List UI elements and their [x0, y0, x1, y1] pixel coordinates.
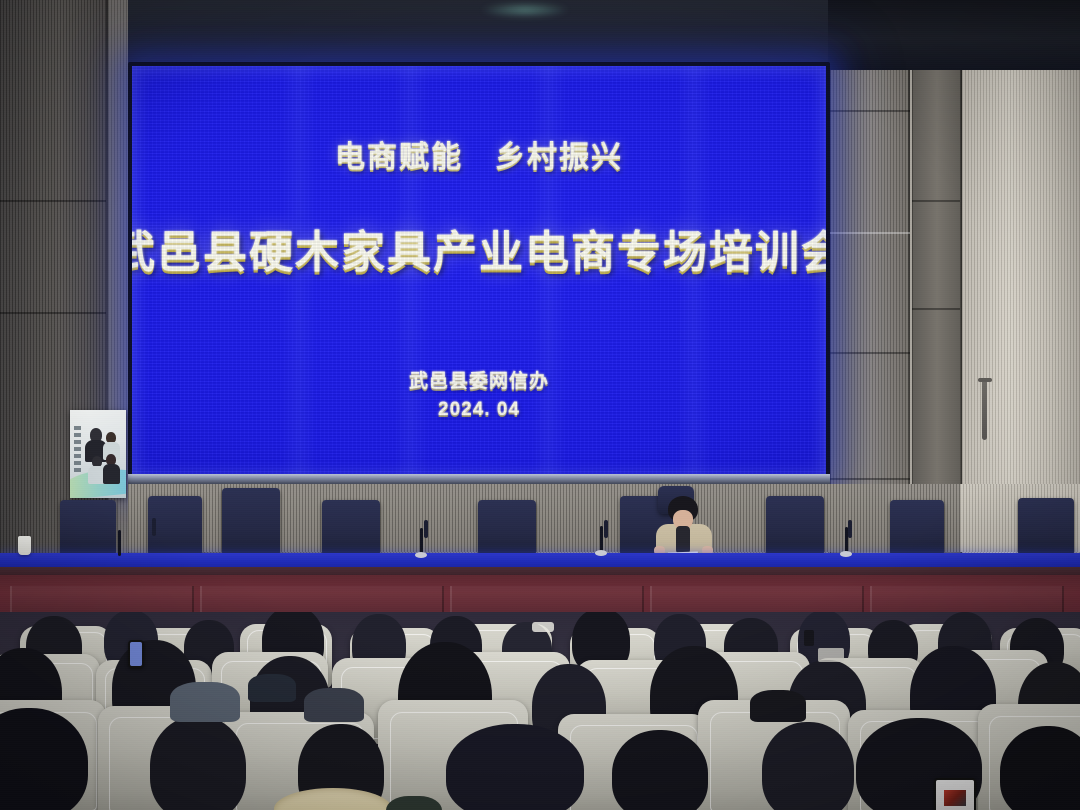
slide-title: 武邑县硬木家具产业电商专场培训会: [132, 216, 826, 280]
slide-date: 2024. 04: [438, 399, 520, 421]
slide-content: 电商赋能 乡村振兴 武邑县硬木家具产业电商专场培训会 武邑县委网信办 2024.…: [132, 66, 826, 478]
wall-hseam: [830, 478, 910, 480]
smartphone-screen[interactable]: [934, 778, 976, 810]
microphone-icon: [845, 527, 848, 553]
chair-arm: [424, 520, 428, 538]
stage-chair: [322, 500, 380, 554]
slide-tagline: 电商赋能 乡村振兴: [335, 132, 623, 176]
microphone-icon: [600, 526, 603, 552]
ceiling-light-glint: [480, 2, 570, 18]
stage-chair: [766, 496, 824, 554]
chair-arm: [152, 518, 156, 536]
presenter-inner-top: [676, 526, 690, 554]
attendee-collar: [248, 674, 296, 702]
attendee-head: [762, 722, 854, 810]
led-screen: 电商赋能 乡村振兴 武邑县硬木家具产业电商专场培训会 武邑县委网信办 2024.…: [132, 66, 826, 478]
poster-figure-body: [103, 464, 120, 484]
water-bottle: [804, 630, 814, 646]
microphone-base: [595, 550, 607, 556]
wall-hseam: [912, 308, 960, 310]
attendee-head: [446, 724, 584, 810]
chair-arm: [604, 520, 608, 538]
attendee-collar: [304, 688, 364, 722]
wall-hseam: [0, 200, 106, 202]
phone-display: [130, 642, 142, 666]
phone-content-thumbnail: [944, 790, 967, 806]
attendee-collar: [170, 682, 240, 722]
smartphone-screen[interactable]: [128, 640, 144, 668]
desk-paper: [818, 648, 844, 662]
conference-photo-scene: 电商赋能 乡村振兴 武邑县硬木家具产业电商专场培训会 武邑县委网信办 2024.…: [0, 0, 1080, 810]
microphone-icon: [420, 528, 423, 554]
stage-chair: [60, 500, 116, 554]
wall-hseam: [0, 312, 106, 314]
microphone-base: [840, 551, 852, 557]
screen-bottom-frame: [128, 474, 830, 484]
wall-hseam-highlight: [830, 232, 910, 234]
microphone-base: [415, 552, 427, 558]
wall-poster: [70, 410, 126, 498]
wall-hseam: [830, 352, 910, 354]
ceiling-shadow: [128, 0, 828, 70]
stage-chair: [890, 500, 944, 554]
poster-text-block: [74, 426, 81, 472]
stage-chair: [478, 500, 536, 554]
stage-chair: [1018, 498, 1074, 554]
chair-arm: [848, 520, 852, 538]
slide-organizer: 武邑县委网信办: [409, 366, 549, 393]
stage-chair: [222, 488, 280, 554]
attendee-head: [612, 730, 708, 810]
water-cup: [18, 536, 31, 555]
attendee-collar: [750, 690, 806, 722]
audience-area: [0, 612, 1080, 810]
stage-chair: [148, 496, 202, 554]
desk-paper: [532, 622, 554, 632]
wall-hseam: [830, 110, 910, 112]
door-handle-icon: [982, 380, 987, 440]
wall-hseam: [912, 200, 960, 202]
attendee-head: [150, 716, 246, 810]
microphone-icon: [118, 530, 121, 556]
phone-display: [936, 780, 974, 810]
door-plate-icon: [978, 378, 992, 382]
